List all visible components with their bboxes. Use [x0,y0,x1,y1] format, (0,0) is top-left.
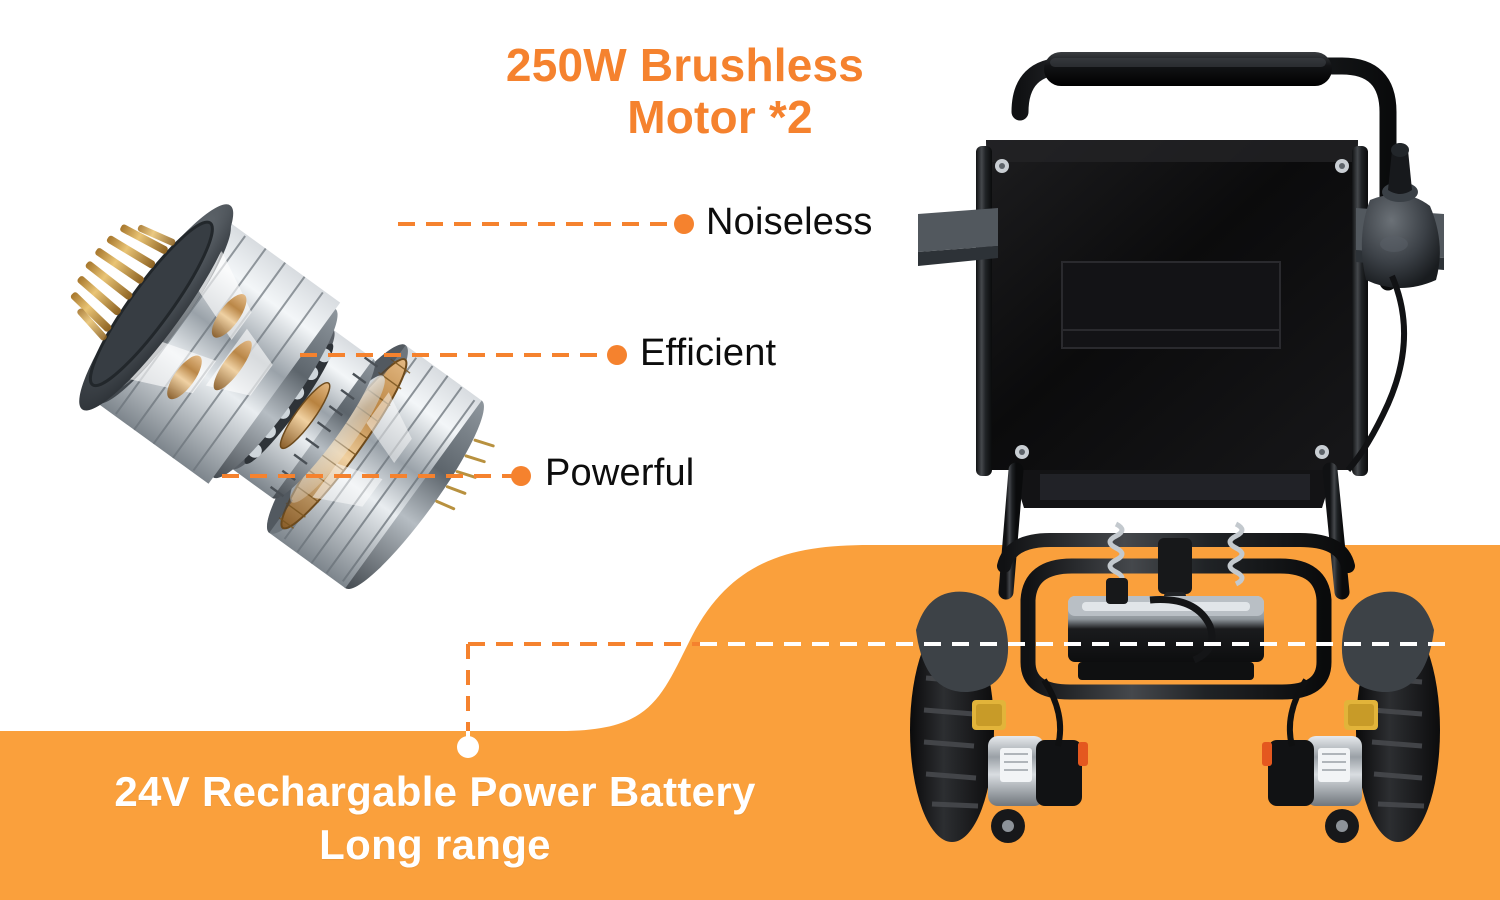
banner-line-2: Long range [40,819,830,872]
infographic-canvas: 250W Brushless Motor *2 Noiseless Effici… [0,0,1500,900]
callout-dot-noiseless [674,214,694,234]
headline-line-1: 250W Brushless [506,39,864,91]
callout-dot-battery [457,736,479,758]
headline-line-2: Motor *2 [430,92,940,144]
callout-dot-powerful [511,466,531,486]
banner-line-1: 24V Rechargable Power Battery [114,768,755,815]
callout-dot-efficient [607,345,627,365]
battery-banner-text: 24V Rechargable Power Battery Long range [40,766,830,871]
callout-label-noiseless: Noiseless [706,201,873,244]
callout-label-efficient: Efficient [640,332,776,375]
page-title: 250W Brushless Motor *2 [430,40,940,143]
callout-label-powerful: Powerful [545,452,694,495]
